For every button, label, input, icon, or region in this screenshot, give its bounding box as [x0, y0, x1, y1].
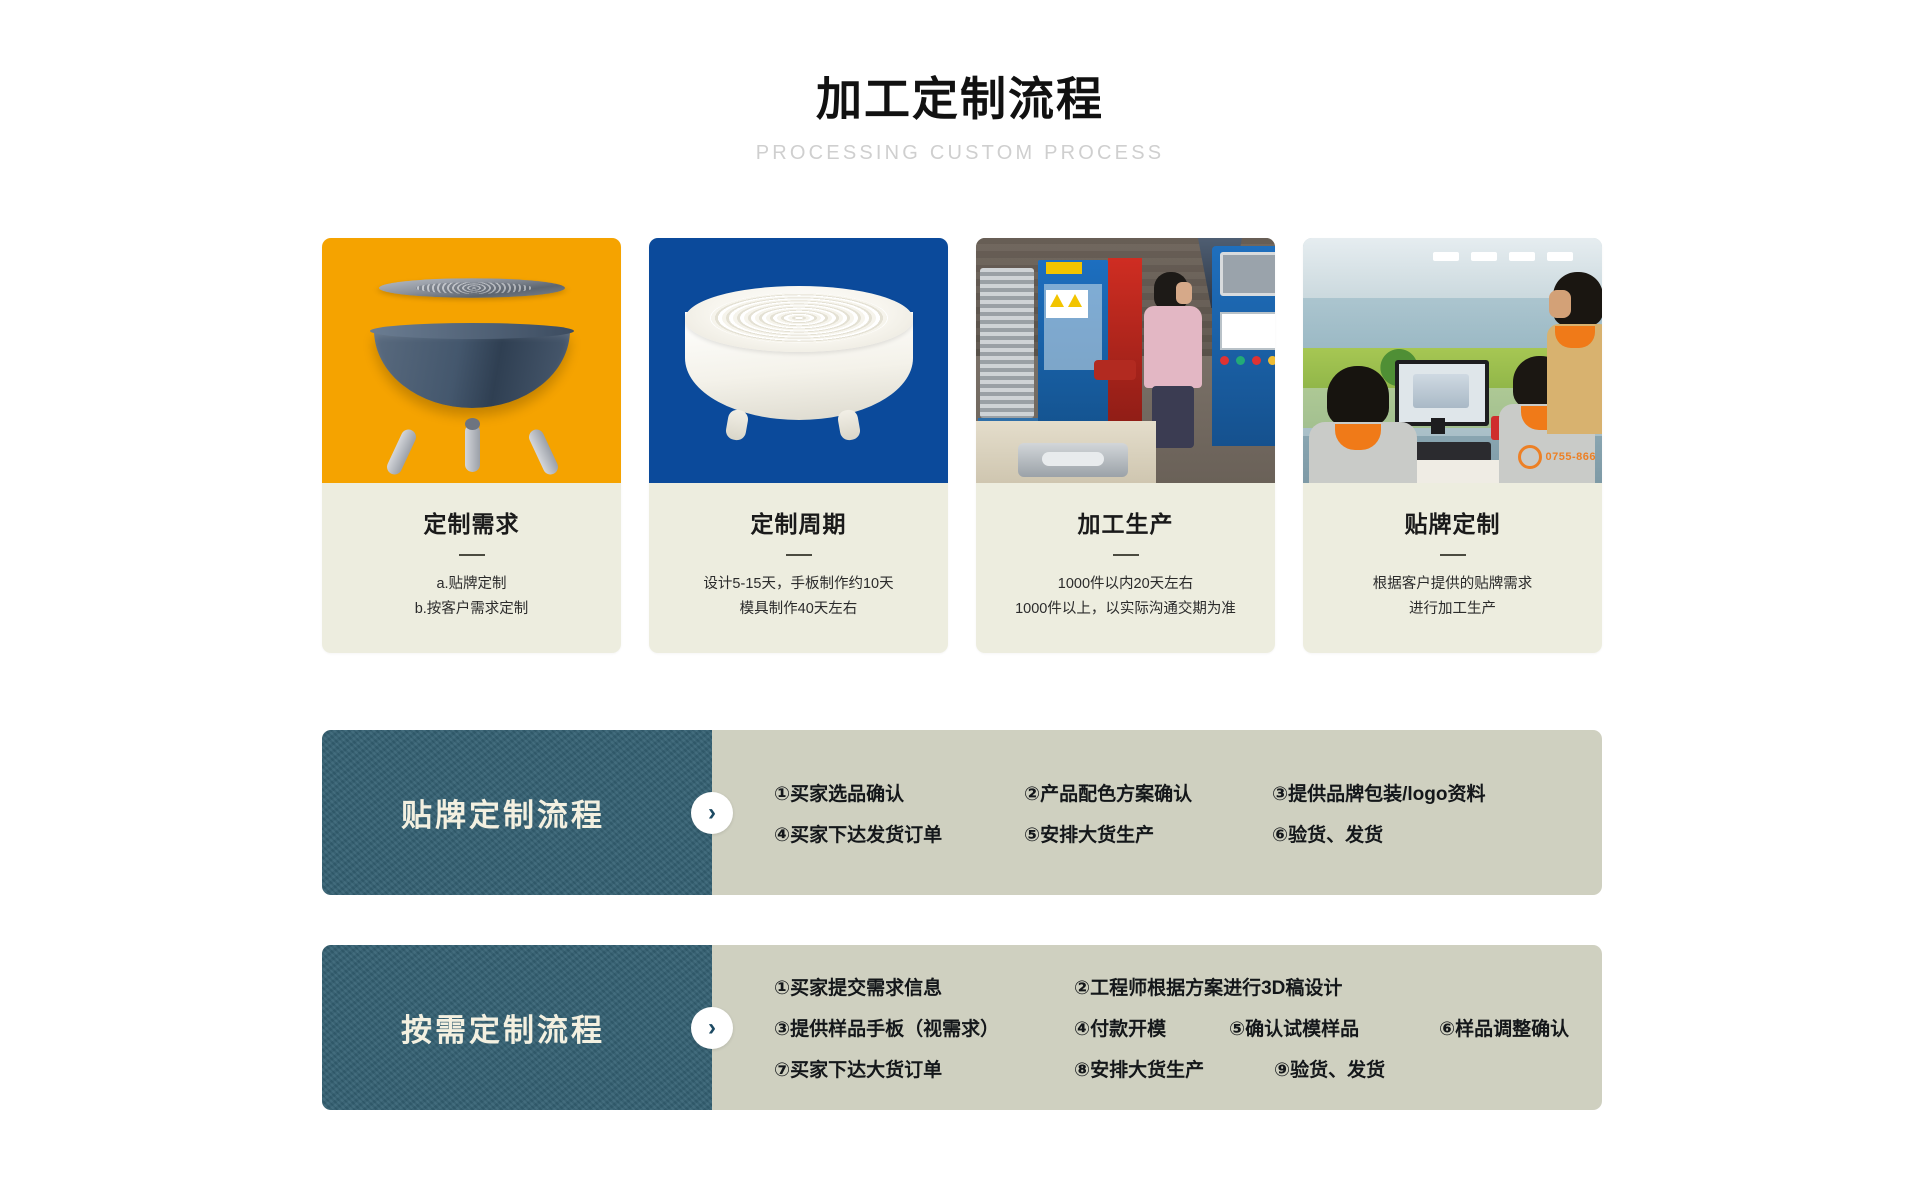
card-2-image-white-prototype	[649, 238, 948, 483]
step-row: ⑦买家下达大货订单 ⑧安排大货生产 ⑨验货、发货	[774, 1055, 1602, 1082]
control-panel-display-bottom	[1220, 312, 1275, 350]
process-step: ④付款开模	[1074, 1014, 1229, 1041]
product-leg-right	[527, 427, 561, 477]
card-2-body: 定制周期 设计5-15天，手板制作约10天 模具制作40天左右	[649, 483, 948, 653]
red-pipe	[1094, 360, 1136, 380]
card-3-body: 加工生产 1000件以内20天左右 1000件以上，以实际沟通交期为准	[976, 483, 1275, 653]
product-bowl-part	[374, 330, 570, 408]
page-title: 加工定制流程	[0, 74, 1920, 125]
office-photo-watermark: 0755-866	[1518, 445, 1597, 469]
process-card-4[interactable]: 0755-866 贴牌定制 根据客户提供的贴牌需求 进行加工生产	[1303, 238, 1602, 653]
person-standing-face	[1549, 290, 1571, 318]
chevron-right-icon: ›	[691, 792, 733, 834]
watermark-text: 0755-866	[1546, 451, 1597, 463]
product-lid-part	[379, 278, 565, 297]
process-bar-ondemand-label-panel[interactable]: 按需定制流程 ›	[322, 945, 712, 1110]
card-3-description: 1000件以内20天左右 1000件以上，以实际沟通交期为准	[986, 572, 1265, 623]
step-row: ④买家下达发货订单 ⑤安排大货生产 ⑥验货、发货	[774, 820, 1602, 847]
office-person-left	[1309, 366, 1417, 483]
product-leg-left	[385, 427, 419, 477]
card-3-divider	[1113, 554, 1139, 556]
card-3-title: 加工生产	[986, 505, 1265, 539]
card-1-body: 定制需求 a.贴牌定制 b.按客户需求定制	[322, 483, 621, 653]
process-bar-oem-label: 贴牌定制流程	[401, 790, 633, 835]
machine-yellow-label	[1046, 262, 1082, 274]
step-row: ①买家提交需求信息 ②工程师根据方案进行3D稿设计	[774, 973, 1602, 1000]
ceiling-light-2	[1471, 252, 1497, 261]
office-person-standing	[1547, 272, 1602, 462]
process-bar-ondemand-label: 按需定制流程	[401, 1005, 633, 1050]
card-4-body: 贴牌定制 根据客户提供的贴牌需求 进行加工生产	[1303, 483, 1602, 653]
process-step: ③提供样品手板（视需求）	[774, 1014, 1074, 1041]
product-leg-center	[465, 424, 480, 472]
card-2-title: 定制周期	[659, 505, 938, 539]
control-panel-button-row	[1220, 356, 1275, 366]
card-2-divider	[786, 554, 812, 556]
card-1-description: a.贴牌定制 b.按客户需求定制	[332, 572, 611, 623]
process-step: ⑤安排大货生产	[1024, 820, 1272, 847]
process-bar-ondemand-steps: ①买家提交需求信息 ②工程师根据方案进行3D稿设计 ③提供样品手板（视需求） ④…	[712, 945, 1602, 1110]
page-header: 加工定制流程 PROCESSING CUSTOM PROCESS	[0, 0, 1920, 165]
process-step: ⑧安排大货生产	[1074, 1055, 1274, 1082]
card-1-title: 定制需求	[332, 505, 611, 539]
process-step: ⑥验货、发货	[1272, 820, 1383, 847]
panel-button-red-2	[1252, 356, 1261, 365]
process-step: ⑤确认试模样品	[1229, 1014, 1439, 1041]
card-4-divider	[1440, 554, 1466, 556]
person-left-head	[1327, 366, 1389, 426]
card-1-divider	[459, 554, 485, 556]
process-step: ⑨验货、发货	[1274, 1055, 1385, 1082]
monitor-stand	[1431, 418, 1445, 434]
process-bar-oem-label-panel[interactable]: 贴牌定制流程 ›	[322, 730, 712, 895]
process-step: ②产品配色方案确认	[1024, 779, 1272, 806]
card-1-image-exploded-product	[322, 238, 621, 483]
card-2-description: 设计5-15天，手板制作约10天 模具制作40天左右	[659, 572, 938, 623]
card-4-description: 根据客户提供的贴牌需求 进行加工生产	[1313, 572, 1592, 623]
process-step: ④买家下达发货订单	[774, 820, 1024, 847]
red-press-frame	[1108, 258, 1142, 426]
watermark-logo-icon	[1518, 445, 1542, 469]
process-card-3[interactable]: 加工生产 1000件以内20天左右 1000件以上，以实际沟通交期为准	[976, 238, 1275, 653]
process-step: ①买家提交需求信息	[774, 973, 1074, 1000]
worker-pants	[1152, 386, 1194, 448]
ceiling-light-4	[1547, 252, 1573, 261]
process-step: ②工程师根据方案进行3D稿设计	[1074, 973, 1342, 1000]
step-row: ③提供样品手板（视需求） ④付款开模 ⑤确认试模样品 ⑥样品调整确认	[774, 1014, 1602, 1041]
step-row: ①买家选品确认 ②产品配色方案确认 ③提供品牌包装/logo资料	[774, 779, 1602, 806]
card-4-image-design-office: 0755-866	[1303, 238, 1602, 483]
chevron-right-icon: ›	[691, 1007, 733, 1049]
ceiling-light-3	[1509, 252, 1535, 261]
panel-button-green	[1236, 356, 1245, 365]
prototype-foot-left	[725, 408, 750, 441]
prototype-foot-right	[837, 408, 862, 441]
worker-face	[1176, 282, 1192, 304]
card-4-title: 贴牌定制	[1313, 505, 1592, 539]
process-bar-oem-steps: ①买家选品确认 ②产品配色方案确认 ③提供品牌包装/logo资料 ④买家下达发货…	[712, 730, 1602, 895]
process-card-2[interactable]: 定制周期 设计5-15天，手板制作约10天 模具制作40天左右	[649, 238, 948, 653]
process-bar-oem: 贴牌定制流程 › ①买家选品确认 ②产品配色方案确认 ③提供品牌包装/logo资…	[322, 730, 1602, 895]
factory-worker	[1142, 272, 1204, 442]
stacked-parts	[980, 268, 1034, 418]
process-step: ③提供品牌包装/logo资料	[1272, 779, 1485, 806]
molded-part-on-table	[1018, 443, 1128, 477]
process-bar-ondemand: 按需定制流程 › ①买家提交需求信息 ②工程师根据方案进行3D稿设计 ③提供样品…	[322, 945, 1602, 1110]
process-cards-row: 定制需求 a.贴牌定制 b.按客户需求定制 定制周期 设计5-15天，手板制作约…	[322, 238, 1602, 653]
worker-pink-shirt	[1144, 306, 1202, 388]
process-step: ⑥样品调整确认	[1439, 1014, 1569, 1041]
panel-button-red-1	[1220, 356, 1229, 365]
process-step: ①买家选品确认	[774, 779, 1024, 806]
process-card-1[interactable]: 定制需求 a.贴牌定制 b.按客户需求定制	[322, 238, 621, 653]
page-subtitle: PROCESSING CUSTOM PROCESS	[0, 142, 1920, 165]
prototype-maze-pattern	[710, 293, 888, 343]
panel-button-amber	[1268, 356, 1275, 365]
control-panel-display-top	[1220, 252, 1275, 296]
process-step: ⑦买家下达大货订单	[774, 1055, 1074, 1082]
ceiling-light-1	[1433, 252, 1459, 261]
card-3-image-factory-production	[976, 238, 1275, 483]
